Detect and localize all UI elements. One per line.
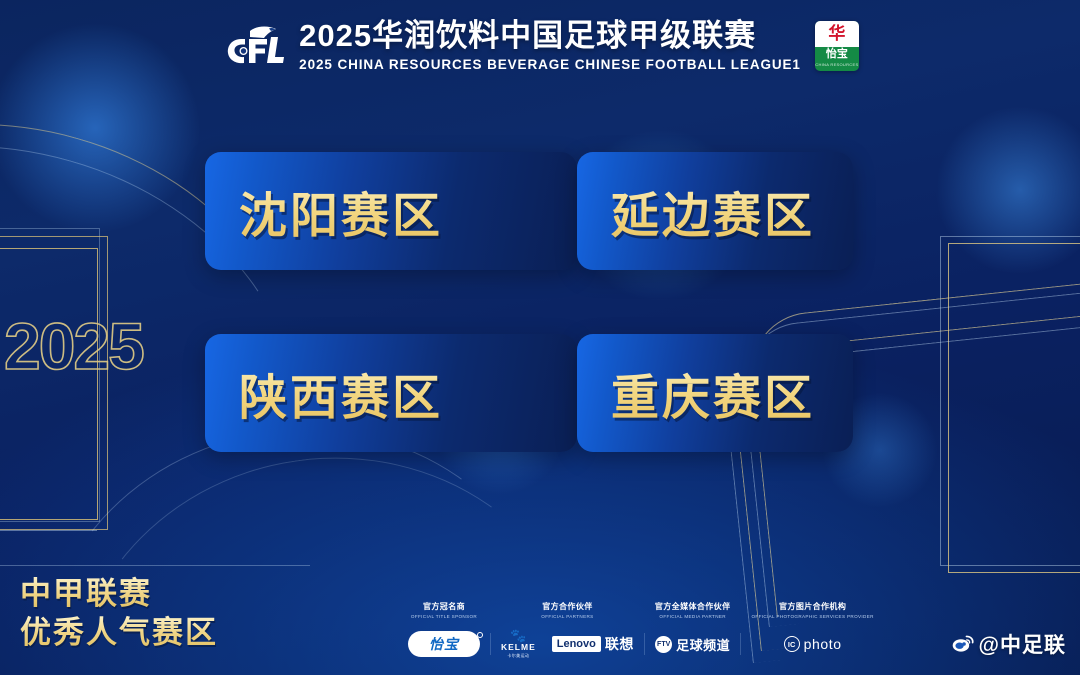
weibo-icon xyxy=(952,635,974,653)
yibao-name: 怡宝 xyxy=(826,49,848,60)
weibo-handle: @中足联 xyxy=(979,629,1066,659)
region-card-chongqing[interactable]: 重庆赛区 xyxy=(577,334,853,452)
yibao-logo-text: 怡宝 xyxy=(429,634,459,654)
sponsor-logos: 🐾 KELME 卡尔美运动 Lenovo 联想 xyxy=(501,629,634,659)
ftv-mark-icon: FTV xyxy=(655,636,672,653)
sponsor-label-en: OFFICIAL MEDIA PARTNER xyxy=(659,614,726,619)
poster-canvas: 2025 2025华润饮料中国足球甲级联赛 2025 CHINA RESOURC… xyxy=(0,0,1080,675)
award-line-2: 优秀人气赛区 xyxy=(20,613,218,653)
sponsor-label-cn: 官方合作伙伴 xyxy=(542,601,592,612)
page-title-cn: 2025华润饮料中国足球甲级联赛 xyxy=(299,20,801,53)
sponsor-group-partners: 官方合作伙伴 OFFICIAL PARTNERS 🐾 KELME 卡尔美运动 L… xyxy=(491,601,644,660)
region-card-grid: 沈阳赛区 延边赛区 陕西赛区 重庆赛区 xyxy=(205,152,865,452)
page-title-en: 2025 CHINA RESOURCES BEVERAGE CHINESE FO… xyxy=(299,57,801,72)
paw-icon: 🐾 xyxy=(510,629,526,642)
region-card-label: 沈阳赛区 xyxy=(239,176,443,246)
lenovo-logo-sub: 联想 xyxy=(605,634,634,654)
sponsor-label-en: OFFICIAL PARTNERS xyxy=(541,614,593,619)
icphoto-logo[interactable]: IC photo xyxy=(784,636,842,652)
yibao-sub: CHINA RESOURCES xyxy=(815,62,858,67)
sponsor-logos: FTV 足球频道 xyxy=(655,629,730,659)
sponsor-label-en: OFFICIAL PHOTOGRAPHIC SERVICES PROVIDER xyxy=(751,614,873,619)
header-sponsor-badge: 华 怡宝 CHINA RESOURCES xyxy=(815,21,859,71)
sponsor-label-cn: 官方冠名商 xyxy=(423,601,465,612)
kelme-logo-text: KELME xyxy=(501,642,536,652)
cfl-logo-icon xyxy=(221,22,285,70)
sponsor-group-media: 官方全媒体合作伙伴 OFFICIAL MEDIA PARTNER FTV 足球频… xyxy=(645,601,741,660)
ic-mark-icon: IC xyxy=(784,636,800,652)
lenovo-logo-text: Lenovo xyxy=(552,636,601,652)
icphoto-logo-text: photo xyxy=(804,636,842,652)
sponsor-label-en: OFFICIAL TITLE SPONSOR xyxy=(411,614,477,619)
sponsor-label-cn: 官方全媒体合作伙伴 xyxy=(655,601,731,612)
sponsor-footer: 官方冠名商 OFFICIAL TITLE SPONSOR 怡宝 官方合作伙伴 O… xyxy=(398,601,884,660)
region-card-label: 延边赛区 xyxy=(611,176,815,246)
sponsor-logos: 怡宝 xyxy=(408,629,480,659)
region-card-shaanxi[interactable]: 陕西赛区 xyxy=(205,334,577,452)
yibao-logo-icon: 华 xyxy=(828,25,845,42)
region-card-shenyang[interactable]: 沈阳赛区 xyxy=(205,152,577,270)
weibo-watermark[interactable]: @中足联 xyxy=(952,629,1066,659)
lenovo-logo[interactable]: Lenovo 联想 xyxy=(552,634,634,654)
region-card-label: 陕西赛区 xyxy=(239,358,443,428)
region-card-label: 重庆赛区 xyxy=(611,358,815,428)
yibao-mark-area: 华 xyxy=(815,21,859,47)
yibao-logo[interactable]: 怡宝 xyxy=(408,631,480,657)
kelme-logo[interactable]: 🐾 KELME 卡尔美运动 xyxy=(501,629,536,658)
award-headline: 中甲联赛 优秀人气赛区 xyxy=(20,574,218,653)
ftv-logo-text: 足球频道 xyxy=(676,635,730,654)
poster-header: 2025华润饮料中国足球甲级联赛 2025 CHINA RESOURCES BE… xyxy=(0,20,1080,72)
kelme-logo-sub: 卡尔美运动 xyxy=(507,653,529,659)
award-line-1: 中甲联赛 xyxy=(20,574,218,614)
header-title-block: 2025华润饮料中国足球甲级联赛 2025 CHINA RESOURCES BE… xyxy=(299,20,801,72)
sponsor-label-cn: 官方图片合作机构 xyxy=(779,601,846,612)
sponsor-logos: IC photo xyxy=(784,629,842,659)
sponsor-group-title: 官方冠名商 OFFICIAL TITLE SPONSOR 怡宝 xyxy=(398,601,490,660)
region-card-yanbian[interactable]: 延边赛区 xyxy=(577,152,853,270)
football-channel-logo[interactable]: FTV 足球频道 xyxy=(655,635,730,654)
sponsor-group-photo: 官方图片合作机构 OFFICIAL PHOTOGRAPHIC SERVICES … xyxy=(741,601,883,660)
